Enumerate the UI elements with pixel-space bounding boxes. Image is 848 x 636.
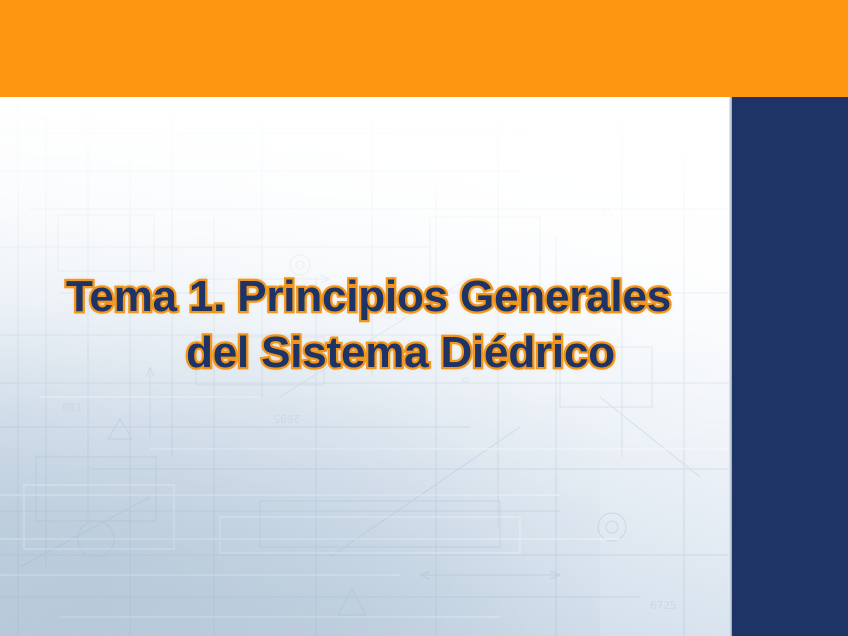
- title-line-2: del Sistema Diédrico: [36, 325, 729, 381]
- slide-content-area: 0R1 2695 0 5 K N 35 6725 R2,5 Tema 1. Pr…: [0, 97, 729, 636]
- title-line-1: Tema 1. Principios Generales: [4, 269, 729, 325]
- slide-canvas: 0R1 2695 0 5 K N 35 6725 R2,5 Tema 1. Pr…: [0, 0, 848, 636]
- orange-header-band: [0, 0, 848, 97]
- navy-side-panel: UCA Universidad de Cádiz: [732, 97, 848, 636]
- page-title: Tema 1. Principios Generales del Sistema…: [0, 269, 729, 381]
